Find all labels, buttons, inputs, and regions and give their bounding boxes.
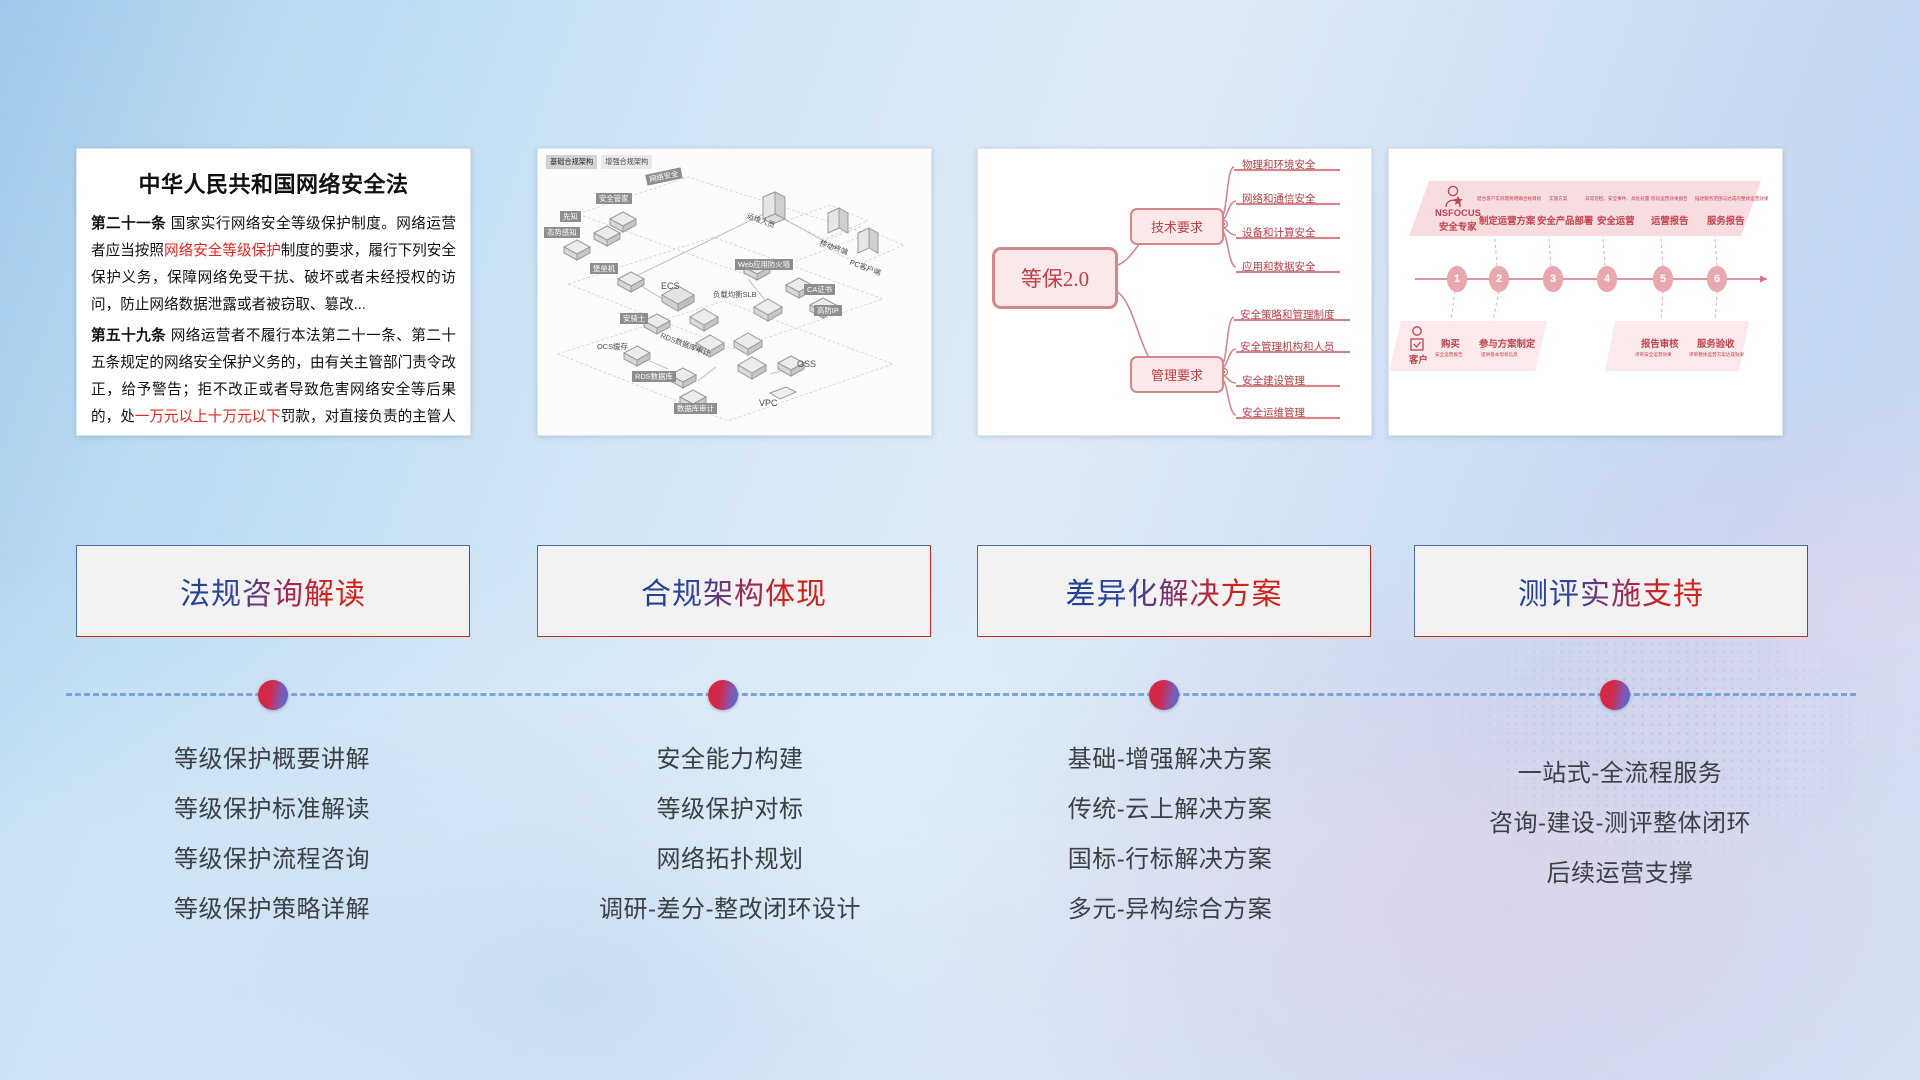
list-item: 等级保护概要讲解 <box>62 735 482 785</box>
list-item: 等级保护标准解读 <box>62 785 482 835</box>
node-label-ca-certificate: CA证书 <box>804 284 835 295</box>
list-item: 等级保护策略详解 <box>62 885 482 935</box>
mindmap-leaf-physical-env: 物理和环境安全 <box>1242 157 1316 172</box>
node-label-ecs: ECS <box>658 280 683 293</box>
node-label-anti-ddos-ip: 高防IP <box>814 305 842 316</box>
node-label-anqishi: 安骑士 <box>620 313 648 324</box>
mindmap-canvas: 等保2.0 技术要求 管理要求 物理和环境安全 网络和通信安全 设备和计算安全 … <box>978 149 1371 435</box>
timeline-dot-3[interactable] <box>1149 680 1179 710</box>
process-step-number-2: 2 <box>1489 266 1509 292</box>
label-button-compliance-architecture[interactable]: 合规架构体现 <box>537 545 931 637</box>
item-list-assessment-support: 一站式-全流程服务 咨询-建设-测评整体闭环 后续运营支撑 <box>1410 749 1830 899</box>
mindmap-leaf-security-org: 安全管理机构和人员 <box>1240 339 1335 354</box>
node-label-ocs-cache: OCS缓存 <box>594 341 631 352</box>
list-item: 网络拓扑规划 <box>520 835 940 885</box>
list-item: 后续运营支撑 <box>1410 849 1830 899</box>
process-bottom-sub-1: 安全运营报告 <box>1435 352 1463 358</box>
label-button-assessment-support-text: 测评实施支持 <box>1518 569 1704 613</box>
section-label-buttons: 法规咨询解读 合规架构体现 差异化解决方案 测评实施支持 <box>0 545 1920 645</box>
process-step-number-1: 1 <box>1447 266 1467 292</box>
process-top-sub-2: 结合客户实际需要明确合规目标 <box>1477 196 1541 202</box>
process-bottom-sub-6: 评审整体运营方案达成效果 <box>1689 352 1744 358</box>
process-bottom-title-5: 报告审核 <box>1641 336 1679 350</box>
process-bottom-title-2: 参与方案制定 <box>1479 336 1535 350</box>
cards-row: 中华人民共和国网络安全法 第二十一条 国家实行网络安全等级保护制度。网络运营者应… <box>0 148 1920 440</box>
process-step-number-5: 5 <box>1653 266 1673 292</box>
list-item: 安全能力构建 <box>520 735 940 785</box>
list-item: 咨询-建设-测评整体闭环 <box>1410 799 1830 849</box>
card-law-document[interactable]: 中华人民共和国网络安全法 第二十一条 国家实行网络安全等级保护制度。网络运营者应… <box>76 148 471 436</box>
node-label-bastion-host: 堡垒机 <box>590 263 618 274</box>
node-label-xianzhi: 先知 <box>560 211 581 222</box>
process-top-title-6: 服务报告 <box>1707 213 1745 227</box>
mindmap-branch-technical: 技术要求 <box>1130 208 1224 245</box>
process-top-sub-6: 描述服务范围与达成的整体运营效果 <box>1695 196 1769 202</box>
law-article-21-highlight: 网络安全等级保护 <box>164 243 281 259</box>
process-svg <box>1389 149 1783 436</box>
section-item-lists: 等级保护概要讲解 等级保护标准解读 等级保护流程咨询 等级保护策略详解 安全能力… <box>0 735 1920 985</box>
item-list-compliance-architecture: 安全能力构建 等级保护对标 网络拓扑规划 调研-差分-整改闭环设计 <box>520 735 940 935</box>
mindmap-branch-management: 管理要求 <box>1130 356 1224 393</box>
process-step-number-4: 4 <box>1597 266 1617 292</box>
node-label-vpc: VPC <box>756 397 781 410</box>
card-process-timeline[interactable]: 1 2 3 4 5 6 NSFOCUS 安全专家 客户 结合客户实际需要明确合规… <box>1388 148 1783 436</box>
timeline-dashed-line <box>66 693 1856 696</box>
mindmap-leaf-device-compute: 设备和计算安全 <box>1242 225 1316 240</box>
node-label-oss: OSS <box>794 358 819 371</box>
process-top-title-4: 安全运营 <box>1597 213 1635 227</box>
label-button-regulation-consulting-text: 法规咨询解读 <box>180 569 366 613</box>
law-article-59-highlight-1: 一万元以上十万元以下 <box>135 409 281 425</box>
law-article-59: 第五十九条 网络运营者不履行本法第二十一条、第二十五条规定的网络安全保护义务的，… <box>77 323 470 436</box>
item-list-regulation-consulting: 等级保护概要讲解 等级保护标准解读 等级保护流程咨询 等级保护策略详解 <box>62 735 482 935</box>
process-bottom-sub-2: 提供基本现状信息 <box>1481 352 1518 358</box>
list-item: 基础-增强解决方案 <box>960 735 1380 785</box>
process-top-title-2: 制定运营方案 <box>1479 213 1535 227</box>
process-canvas: 1 2 3 4 5 6 NSFOCUS 安全专家 客户 结合客户实际需要明确合规… <box>1389 149 1782 435</box>
list-item: 国标-行标解决方案 <box>960 835 1380 885</box>
list-item: 多元-异构综合方案 <box>960 885 1380 935</box>
card-mindmap[interactable]: 等保2.0 技术要求 管理要求 物理和环境安全 网络和通信安全 设备和计算安全 … <box>977 148 1372 436</box>
process-customer-role: 客户 <box>1409 352 1428 366</box>
law-title: 中华人民共和国网络安全法 <box>77 167 470 199</box>
process-top-title-3: 安全产品部署 <box>1537 213 1593 227</box>
timeline-connector <box>0 660 1920 720</box>
list-item: 等级保护流程咨询 <box>62 835 482 885</box>
label-button-assessment-support[interactable]: 测评实施支持 <box>1414 545 1808 637</box>
process-vendor-name: NSFOCUS <box>1435 207 1481 218</box>
card-architecture-diagram[interactable]: 基础合规架构 增强合规架构 <box>537 148 932 436</box>
architecture-canvas: 基础合规架构 增强合规架构 <box>538 149 931 435</box>
process-bottom-title-6: 服务验收 <box>1697 336 1735 350</box>
mindmap-leaf-network-comm: 网络和通信安全 <box>1242 191 1316 206</box>
process-step-number-3: 3 <box>1543 266 1563 292</box>
list-item: 等级保护对标 <box>520 785 940 835</box>
process-top-sub-5: 阶段运营效果报告 <box>1651 196 1688 202</box>
law-article-21: 第二十一条 国家实行网络安全等级保护制度。网络运营者应当按照网络安全等级保护制度… <box>77 211 470 319</box>
node-label-slb: 负载均衡SLB <box>710 289 760 300</box>
node-label-situational-awareness: 态势感知 <box>544 227 580 238</box>
mindmap-leaf-ops-mgmt: 安全运维管理 <box>1242 405 1305 420</box>
mindmap-leaf-app-data: 应用和数据安全 <box>1242 259 1316 274</box>
list-item: 调研-差分-整改闭环设计 <box>520 885 940 935</box>
process-top-sub-4: 日常巡检、安全事件、高危处置 <box>1585 196 1649 202</box>
label-button-differentiated-solution-text: 差异化解决方案 <box>1066 569 1283 613</box>
timeline-dot-2[interactable] <box>708 680 738 710</box>
label-button-compliance-architecture-text: 合规架构体现 <box>641 569 827 613</box>
label-button-differentiated-solution[interactable]: 差异化解决方案 <box>977 545 1371 637</box>
timeline-dot-4[interactable] <box>1600 680 1630 710</box>
node-label-rds-database: RDS数据库 <box>632 371 676 382</box>
node-label-database-audit: 数据库审计 <box>674 403 717 414</box>
node-label-waf: Web应用防火墙 <box>735 259 793 270</box>
process-step-number-6: 6 <box>1707 266 1727 292</box>
process-bottom-title-1: 购买 <box>1441 336 1460 350</box>
list-item: 传统-云上解决方案 <box>960 785 1380 835</box>
node-label-security-butler: 安全管家 <box>596 193 632 204</box>
list-item: 一站式-全流程服务 <box>1410 749 1830 799</box>
process-vendor-role: 安全专家 <box>1439 219 1477 233</box>
law-article-21-label: 第二十一条 <box>91 216 166 232</box>
process-bottom-sub-5: 评审安全运营效果 <box>1635 352 1672 358</box>
process-top-title-5: 运营报告 <box>1651 213 1689 227</box>
label-button-regulation-consulting[interactable]: 法规咨询解读 <box>76 545 470 637</box>
law-article-59-label: 第五十九条 <box>91 328 166 344</box>
mindmap-leaf-security-policy: 安全策略和管理制度 <box>1240 307 1335 322</box>
mindmap-leaf-construction-mgmt: 安全建设管理 <box>1242 373 1305 388</box>
mindmap-root-node: 等保2.0 <box>992 247 1118 309</box>
process-top-sub-3: 实施方案 <box>1549 196 1567 202</box>
item-list-differentiated-solution: 基础-增强解决方案 传统-云上解决方案 国标-行标解决方案 多元-异构综合方案 <box>960 735 1380 935</box>
timeline-dot-1[interactable] <box>258 680 288 710</box>
